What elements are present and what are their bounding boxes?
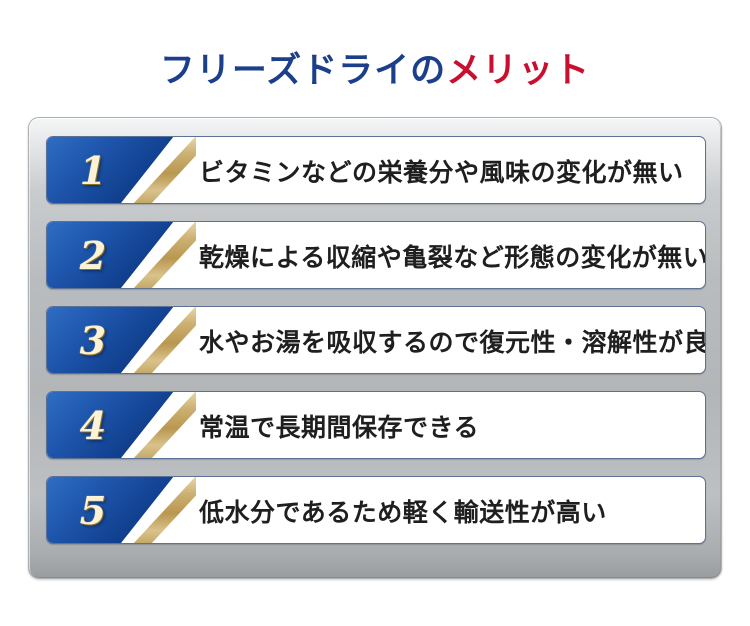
page-title: フリーズドライのメリット	[0, 52, 750, 91]
benefits-list: 1 ビタミンなどの栄養分や風味の変化が無い 2 乾燥による収縮や亀裂など形態の変…	[46, 136, 706, 562]
benefit-text: 乾燥による収縮や亀裂など形態の変化が無い	[199, 222, 695, 289]
page-title-accent: メリット	[446, 51, 590, 91]
badge-number-label: 4	[47, 392, 139, 459]
page-title-primary: フリーズドライの	[160, 51, 446, 91]
benefits-frame: 1 ビタミンなどの栄養分や風味の変化が無い 2 乾燥による収縮や亀裂など形態の変…	[28, 117, 722, 579]
infographic-page: フリーズドライのメリット 1 ビタミンなどの栄養分や風味の変化が無い 2 乾燥に…	[0, 0, 750, 626]
benefit-text: 水やお湯を吸収するので復元性・溶解性が良い	[199, 307, 695, 374]
badge-number-label: 3	[47, 307, 139, 374]
list-item: 4 常温で長期間保存できる	[46, 391, 706, 459]
list-item: 5 低水分であるため軽く輸送性が高い	[46, 476, 706, 544]
list-item: 3 水やお湯を吸収するので復元性・溶解性が良い	[46, 306, 706, 374]
list-item: 1 ビタミンなどの栄養分や風味の変化が無い	[46, 136, 706, 204]
list-item: 2 乾燥による収縮や亀裂など形態の変化が無い	[46, 221, 706, 289]
benefit-text: 低水分であるため軽く輸送性が高い	[199, 477, 695, 544]
badge-number-label: 2	[47, 222, 139, 289]
badge-number-label: 5	[47, 477, 139, 544]
benefit-text: 常温で長期間保存できる	[199, 392, 695, 459]
benefit-text: ビタミンなどの栄養分や風味の変化が無い	[199, 137, 695, 204]
badge-number-label: 1	[47, 137, 139, 204]
